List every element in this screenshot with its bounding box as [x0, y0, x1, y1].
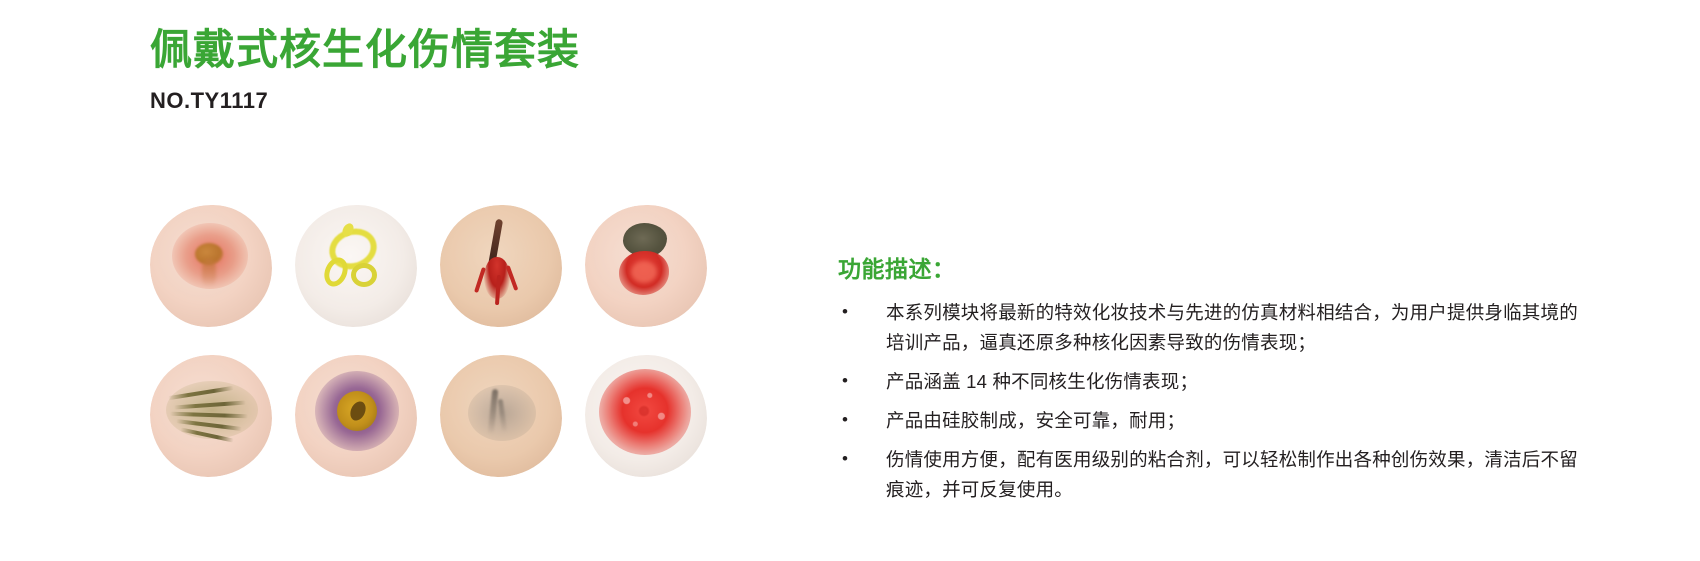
wound-image-yellow-chemical-burn	[295, 205, 417, 327]
bullet-icon: •	[838, 445, 886, 473]
bullet-icon: •	[838, 406, 886, 434]
list-item: • 产品涵盖 14 种不同核生化伤情表现；	[838, 367, 1578, 397]
list-item: • 本系列模块将最新的特效化妆技术与先进的仿真材料相结合，为用户提供身临其境的培…	[838, 298, 1578, 358]
granule-texture-detail	[615, 385, 673, 437]
list-item-text: 本系列模块将最新的特效化妆技术与先进的仿真材料相结合，为用户提供身临其境的培训产…	[886, 298, 1578, 358]
bullet-icon: •	[838, 298, 886, 326]
list-item: • 伤情使用方便，配有医用级别的粘合剂，可以轻松制作出各种创伤效果，清洁后不留痕…	[838, 445, 1578, 505]
wound-image-burn-erythema-blister	[150, 205, 272, 327]
list-item-text: 产品涵盖 14 种不同核生化伤情表现；	[886, 367, 1578, 397]
list-item: • 产品由硅胶制成，安全可靠，耐用；	[838, 406, 1578, 436]
description-heading: 功能描述：	[838, 250, 1578, 284]
yellow-loop-detail	[351, 263, 377, 287]
list-item-text: 伤情使用方便，配有医用级别的粘合剂，可以轻松制作出各种创伤效果，清洁后不留痕迹，…	[886, 445, 1578, 505]
bullet-icon: •	[838, 367, 886, 395]
description-block: 功能描述： • 本系列模块将最新的特效化妆技术与先进的仿真材料相结合，为用户提供…	[838, 250, 1578, 514]
product-code: NO.TY1117	[150, 88, 580, 114]
wound-module-gallery	[150, 205, 730, 505]
drip-detail	[202, 259, 216, 287]
feature-list: • 本系列模块将最新的特效化妆技术与先进的仿真材料相结合，为用户提供身临其境的培…	[838, 298, 1578, 505]
page-title: 佩戴式核生化伤情套装	[150, 26, 580, 74]
highlight-detail	[631, 261, 657, 283]
wound-image-dark-eschar-wound	[585, 205, 707, 327]
wound-image-purple-contusion	[295, 355, 417, 477]
wound-image-deep-laceration	[440, 205, 562, 327]
wound-image-gray-bruise	[440, 355, 562, 477]
wound-image-olive-striated-abrasion	[150, 355, 272, 477]
page-header: 佩戴式核生化伤情套装 NO.TY1117	[150, 26, 580, 114]
wound-image-red-granular-rash	[585, 355, 707, 477]
list-item-text: 产品由硅胶制成，安全可靠，耐用；	[886, 406, 1578, 436]
